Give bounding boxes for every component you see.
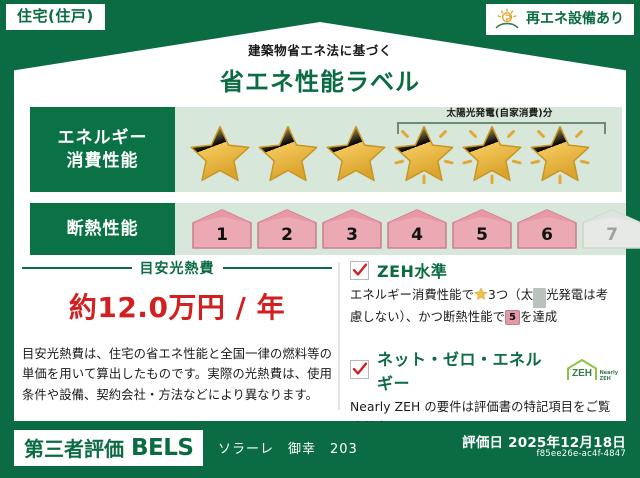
zeh-body-part4: を達成 (520, 310, 557, 324)
renewable-equipment-badge: 再エネ設備あり (486, 4, 634, 35)
zeh-level-body: エネルギー消費性能で3つ（太陽光発電は考慮しない）、かつ断熱性能で5を達成 (350, 286, 618, 328)
check-icon (352, 361, 368, 377)
evaluation-id: f85ee26e-ac4f-4847 (537, 449, 627, 459)
sun-solar-icon (494, 8, 520, 30)
utility-cost-value: 約12.0万円 / 年 (22, 286, 332, 326)
check-icon (352, 262, 368, 278)
insulation-levels-area: 1234567 (175, 203, 626, 255)
star-icon (187, 121, 253, 185)
zeh-logo-sub2: ZEH (600, 376, 611, 382)
insulation-level-number: 2 (256, 225, 318, 245)
energy-stars-area: 太陽光発電(自家消費)分 (175, 107, 622, 192)
bels-energy-label: 住宅(住戸) 再エネ設備あり 建築物省エネ法に基づく 省エネ性能ラベル (0, 0, 640, 478)
insulation-level-house: 1 (191, 208, 253, 250)
insulation-level-number: 3 (321, 225, 383, 245)
column-divider (338, 262, 340, 410)
insulation-level-scale: 1234567 (191, 208, 640, 250)
insulation-level-house: 6 (516, 208, 578, 250)
zeh-body-part2: 3つ（太 (488, 288, 533, 302)
bels-logo-en: BELS (131, 435, 193, 461)
net-zero-checkbox (350, 360, 369, 379)
bels-logo: 第三者評価 BELS (14, 430, 203, 466)
energy-label-line2: 消費性能 (58, 150, 148, 172)
insulation-performance-label: 断熱性能 (30, 203, 175, 255)
insulation-level-number: 6 (516, 225, 578, 245)
zeh-house-icon: ZEH (565, 358, 599, 382)
insulation-level-house: 3 (321, 208, 383, 250)
renewable-equipment-label: 再エネ設備あり (526, 12, 624, 26)
zeh-level-title: ZEH水準 (377, 258, 447, 282)
insulation-performance-row: 断熱性能 1234567 (30, 203, 626, 255)
insulation-chip: 5 (505, 310, 520, 325)
heading-rule-right (223, 267, 333, 269)
solar-bracket (397, 122, 606, 134)
zeh-level-check-row: ZEH水準 (350, 258, 618, 282)
star-icon (323, 121, 389, 185)
obscured-char: 陽 (533, 288, 546, 308)
building-name: ソラーレ 御幸 203 (218, 438, 358, 457)
net-zero-check-row: ネット・ゼロ・エネルギー ZEH Nearly ZEH (350, 346, 618, 394)
footer-bar: 第三者評価 BELS ソラーレ 御幸 203 評価日 2025年12月18日 f… (0, 422, 640, 478)
utility-cost-heading: 目安光熱費 (140, 258, 215, 278)
insulation-level-number: 7 (581, 225, 640, 245)
utility-cost-heading-row: 目安光熱費 (22, 258, 332, 278)
housing-type-badge: 住宅(住戸) (6, 4, 105, 30)
zeh-column: ZEH水準 エネルギー消費性能で3つ（太陽光発電は考慮しない）、かつ断熱性能で5… (350, 258, 618, 438)
energy-performance-row: エネルギー 消費性能 太陽光発電(自家消費)分 (30, 107, 622, 192)
evaluation-date: 評価日 2025年12月18日 (462, 431, 626, 451)
energy-performance-label: エネルギー 消費性能 (30, 107, 175, 192)
utility-cost-note: 目安光熱費は、住宅の省エネ性能と全国一律の燃料等の単価を用いて算出したものです。… (22, 344, 332, 405)
insulation-level-number: 1 (191, 225, 253, 245)
title-subtitle: 建築物省エネ法に基づく (0, 40, 640, 59)
insulation-level-house: 5 (451, 208, 513, 250)
svg-text:ZEH: ZEH (572, 368, 592, 379)
zeh-body-part1: エネルギー消費性能で (350, 288, 474, 302)
insulation-level-house: 2 (256, 208, 318, 250)
page-title: 省エネ性能ラベル (0, 62, 640, 97)
star-icon (255, 121, 321, 185)
utility-cost-column: 目安光熱費 約12.0万円 / 年 目安光熱費は、住宅の省エネ性能と全国一律の燃… (22, 258, 332, 405)
zeh-logo: ZEH Nearly ZEH (565, 358, 618, 382)
heading-rule-left (22, 267, 132, 269)
net-zero-title: ネット・ゼロ・エネルギー (377, 346, 557, 394)
zeh-logo-subtext: Nearly ZEH (600, 371, 618, 382)
insulation-level-house: 7 (581, 208, 640, 250)
energy-label-line1: エネルギー (58, 127, 148, 149)
insulation-level-number: 4 (386, 225, 448, 245)
insulation-level-house: 4 (386, 208, 448, 250)
bels-logo-jp: 第三者評価 (24, 433, 124, 462)
solar-caption: 太陽光発電(自家消費)分 (397, 105, 602, 119)
insulation-level-number: 5 (451, 225, 513, 245)
title-block: 建築物省エネ法に基づく 省エネ性能ラベル (0, 40, 640, 97)
star-icon (474, 287, 488, 301)
zeh-level-checkbox (350, 261, 369, 280)
